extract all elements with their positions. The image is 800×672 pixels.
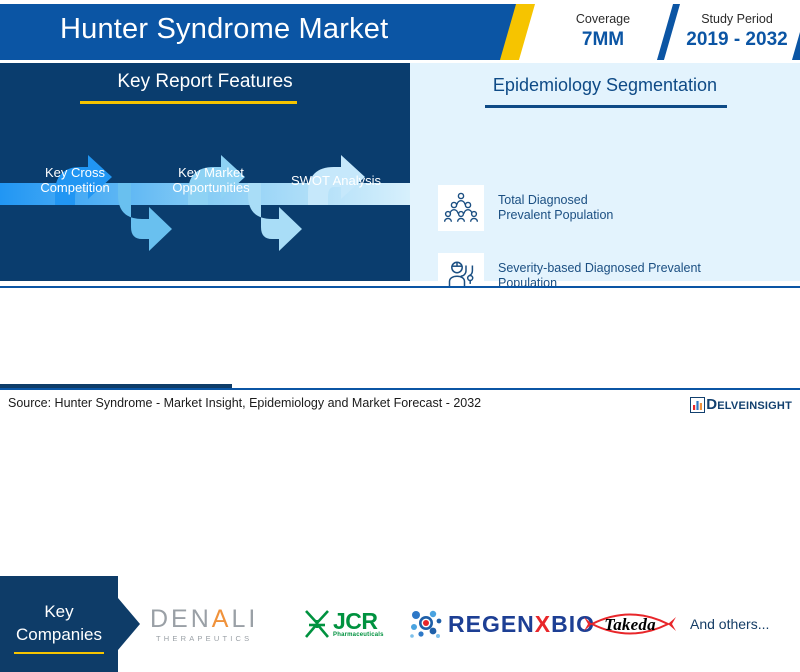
page-title: Hunter Syndrome Market [60,13,500,46]
key-companies-tag: Key Companies [0,576,118,672]
key-report-features-panel: Key Report Features Ke [0,63,410,281]
jcr-pharmaceuticals-logo[interactable]: JCR Pharmaceuticals [302,576,384,672]
features-title: Key Report Features [0,71,410,93]
jcr-wordmark: JCR [333,610,384,632]
key-companies-tag-underline [14,652,104,654]
company-logos: DENALI THERAPEUTICS JCR Pharmaceuticals [150,576,800,672]
delveinsight-logo: DELVEINSIGHT [690,396,792,413]
infographic-page: Hunter Syndrome Market Coverage 7MM Stud… [0,0,800,420]
delveinsight-wordmark: DELVEINSIGHT [706,396,792,413]
key-companies-row: Key Companies DENALI THERAPEUTICS [0,288,800,384]
regenxbio-wordmark: REGENXBIO [448,611,595,638]
takeda-lens-icon: Takeda [582,606,678,642]
key-companies-tag-label: Key Companies [0,600,118,646]
denali-therapeutics-logo[interactable]: DENALI THERAPEUTICS [150,576,258,672]
takeda-wordmark: Takeda [604,615,656,634]
jcr-mark-icon [302,607,332,641]
feature-label-swot-analysis: SWOT Analysis [278,173,394,188]
epidemiology-segmentation-panel: Epidemiology Segmentation [410,63,800,281]
feature-label-key-market-opportunities: Key MarketOpportunities [152,165,270,195]
features-title-underline [80,101,297,104]
regenxbio-logo[interactable]: REGENXBIO [408,576,595,672]
header-bar: Hunter Syndrome Market Coverage 7MM Stud… [0,4,800,60]
source-text: Source: Hunter Syndrome - Market Insight… [8,396,481,410]
denali-wordmark: DENALI [150,606,258,632]
key-companies-arrow-icon [118,598,140,650]
coverage-label: Coverage [551,11,655,27]
and-others-text: And others... [690,576,769,672]
jcr-tagline: Pharmaceuticals [333,632,384,638]
epidemiology-item-total-diagnosed: Total Diagnosed Prevalent Population [438,185,613,231]
denali-tagline: THERAPEUTICS [150,634,258,643]
study-period-label: Study Period [679,11,795,27]
study-period-stat: Study Period 2019 - 2032 [679,11,795,52]
epidemiology-title-underline [485,105,727,108]
study-period-value: 2019 - 2032 [679,28,795,52]
delveinsight-mark-icon [690,397,705,413]
takeda-logo[interactable]: Takeda [582,576,678,672]
coverage-stat: Coverage 7MM [551,11,655,52]
regenxbio-molecule-icon [408,607,444,641]
footer-rule [0,388,800,390]
people-group-icon [438,185,484,231]
feature-label-key-cross-competition: Key CrossCompetition [16,165,134,195]
epidemiology-title: Epidemiology Segmentation [410,75,800,96]
epidemiology-item-label: Total Diagnosed Prevalent Population [498,193,613,223]
coverage-value: 7MM [551,28,655,52]
